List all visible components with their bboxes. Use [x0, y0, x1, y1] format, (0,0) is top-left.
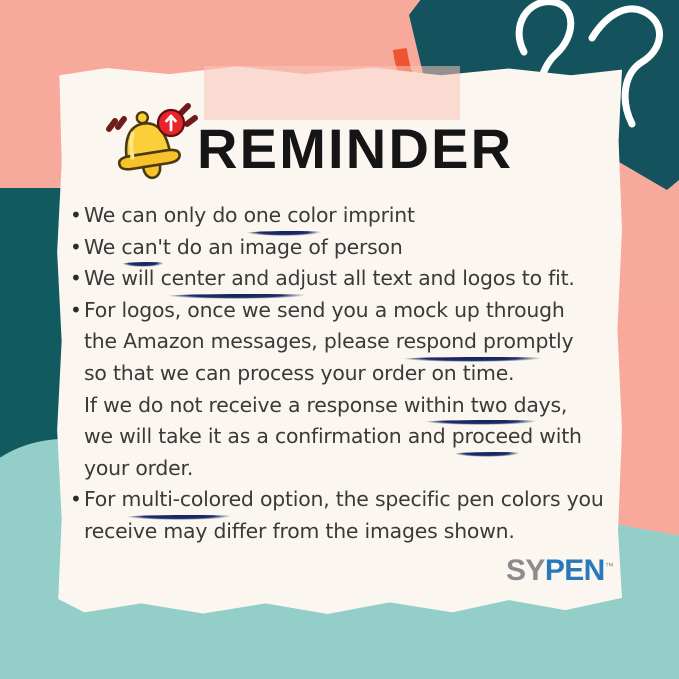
list-item-line: the Amazon messages, please respond prom…: [70, 326, 615, 358]
list-item: •We will center and adjust all text and …: [70, 263, 615, 295]
list-item: •We can only do one color imprint: [70, 200, 615, 232]
text-run: do an image of person: [171, 235, 403, 259]
text-run: so that we can process your order on tim…: [84, 361, 514, 385]
list-item: •For logos, once we send you a mock up t…: [70, 295, 615, 485]
list-item-line: We will center and adjust all text and l…: [70, 263, 615, 295]
text-run: We will: [84, 266, 161, 290]
text-run: we will take it as a confirmation and: [84, 424, 452, 448]
logo-text-sy: SY: [506, 554, 545, 587]
list-item-line: We can only do one color imprint: [70, 200, 615, 232]
reminder-bullet-list: •We can only do one color imprint•We can…: [70, 200, 615, 548]
text-run: with: [533, 424, 582, 448]
underlined-emphasis: center and adjust: [161, 263, 337, 295]
sypen-logo: SYPEN™: [506, 556, 613, 586]
bullet-icon: •: [70, 484, 82, 516]
bell-badge: [158, 110, 184, 136]
list-item: •We can't do an image of person: [70, 232, 615, 264]
underlined-emphasis: ithin two days: [420, 390, 561, 422]
list-item-line: If we do not receive a response within t…: [70, 390, 615, 422]
text-run: the Amazon messages, please: [84, 329, 396, 353]
poster-canvas: REMINDER •We can only do one color impri…: [0, 0, 679, 679]
page-title: REMINDER: [197, 121, 513, 177]
list-item-line: For multi-colored option, the specific p…: [70, 484, 615, 516]
text-run: For: [84, 487, 122, 511]
list-item-line: we will take it as a confirmation and pr…: [70, 421, 615, 453]
text-run: We: [84, 235, 121, 259]
list-item-line: We can't do an image of person: [70, 232, 615, 264]
text-run: ,: [561, 393, 567, 417]
underlined-emphasis: respond promptly: [396, 326, 574, 358]
text-run: receive may differ from the images shown…: [84, 519, 515, 543]
text-run: imprint: [336, 203, 414, 227]
text-run: We can only do: [84, 203, 244, 227]
underlined-emphasis: multi-colored: [122, 484, 254, 516]
bullet-icon: •: [70, 263, 82, 295]
logo-text-pen: PEN: [545, 554, 605, 587]
text-run: option, the specific pen colors you: [254, 487, 604, 511]
underlined-emphasis: one color: [244, 200, 337, 232]
trademark-icon: ™: [605, 561, 613, 571]
list-item-line: receive may differ from the images shown…: [70, 516, 615, 548]
underlined-emphasis: can't: [121, 232, 170, 264]
text-run: your order.: [84, 456, 193, 480]
list-item-line: so that we can process your order on tim…: [70, 358, 615, 390]
text-run: all text and logos to fit.: [337, 266, 575, 290]
bullet-icon: •: [70, 200, 82, 232]
list-item-line: For logos, once we send you a mock up th…: [70, 295, 615, 327]
underlined-emphasis: proceed: [452, 421, 533, 453]
bullet-icon: •: [70, 295, 82, 327]
text-run: For logos, once we send you a mock up th…: [84, 298, 565, 322]
list-item-line: your order.: [70, 453, 615, 485]
text-run: If we do not receive a response w: [84, 393, 420, 417]
list-item: •For multi-colored option, the specific …: [70, 484, 615, 547]
bell-notification-icon: [99, 101, 199, 185]
pink-highlight-wash: [204, 66, 460, 120]
bullet-icon: •: [70, 232, 82, 264]
